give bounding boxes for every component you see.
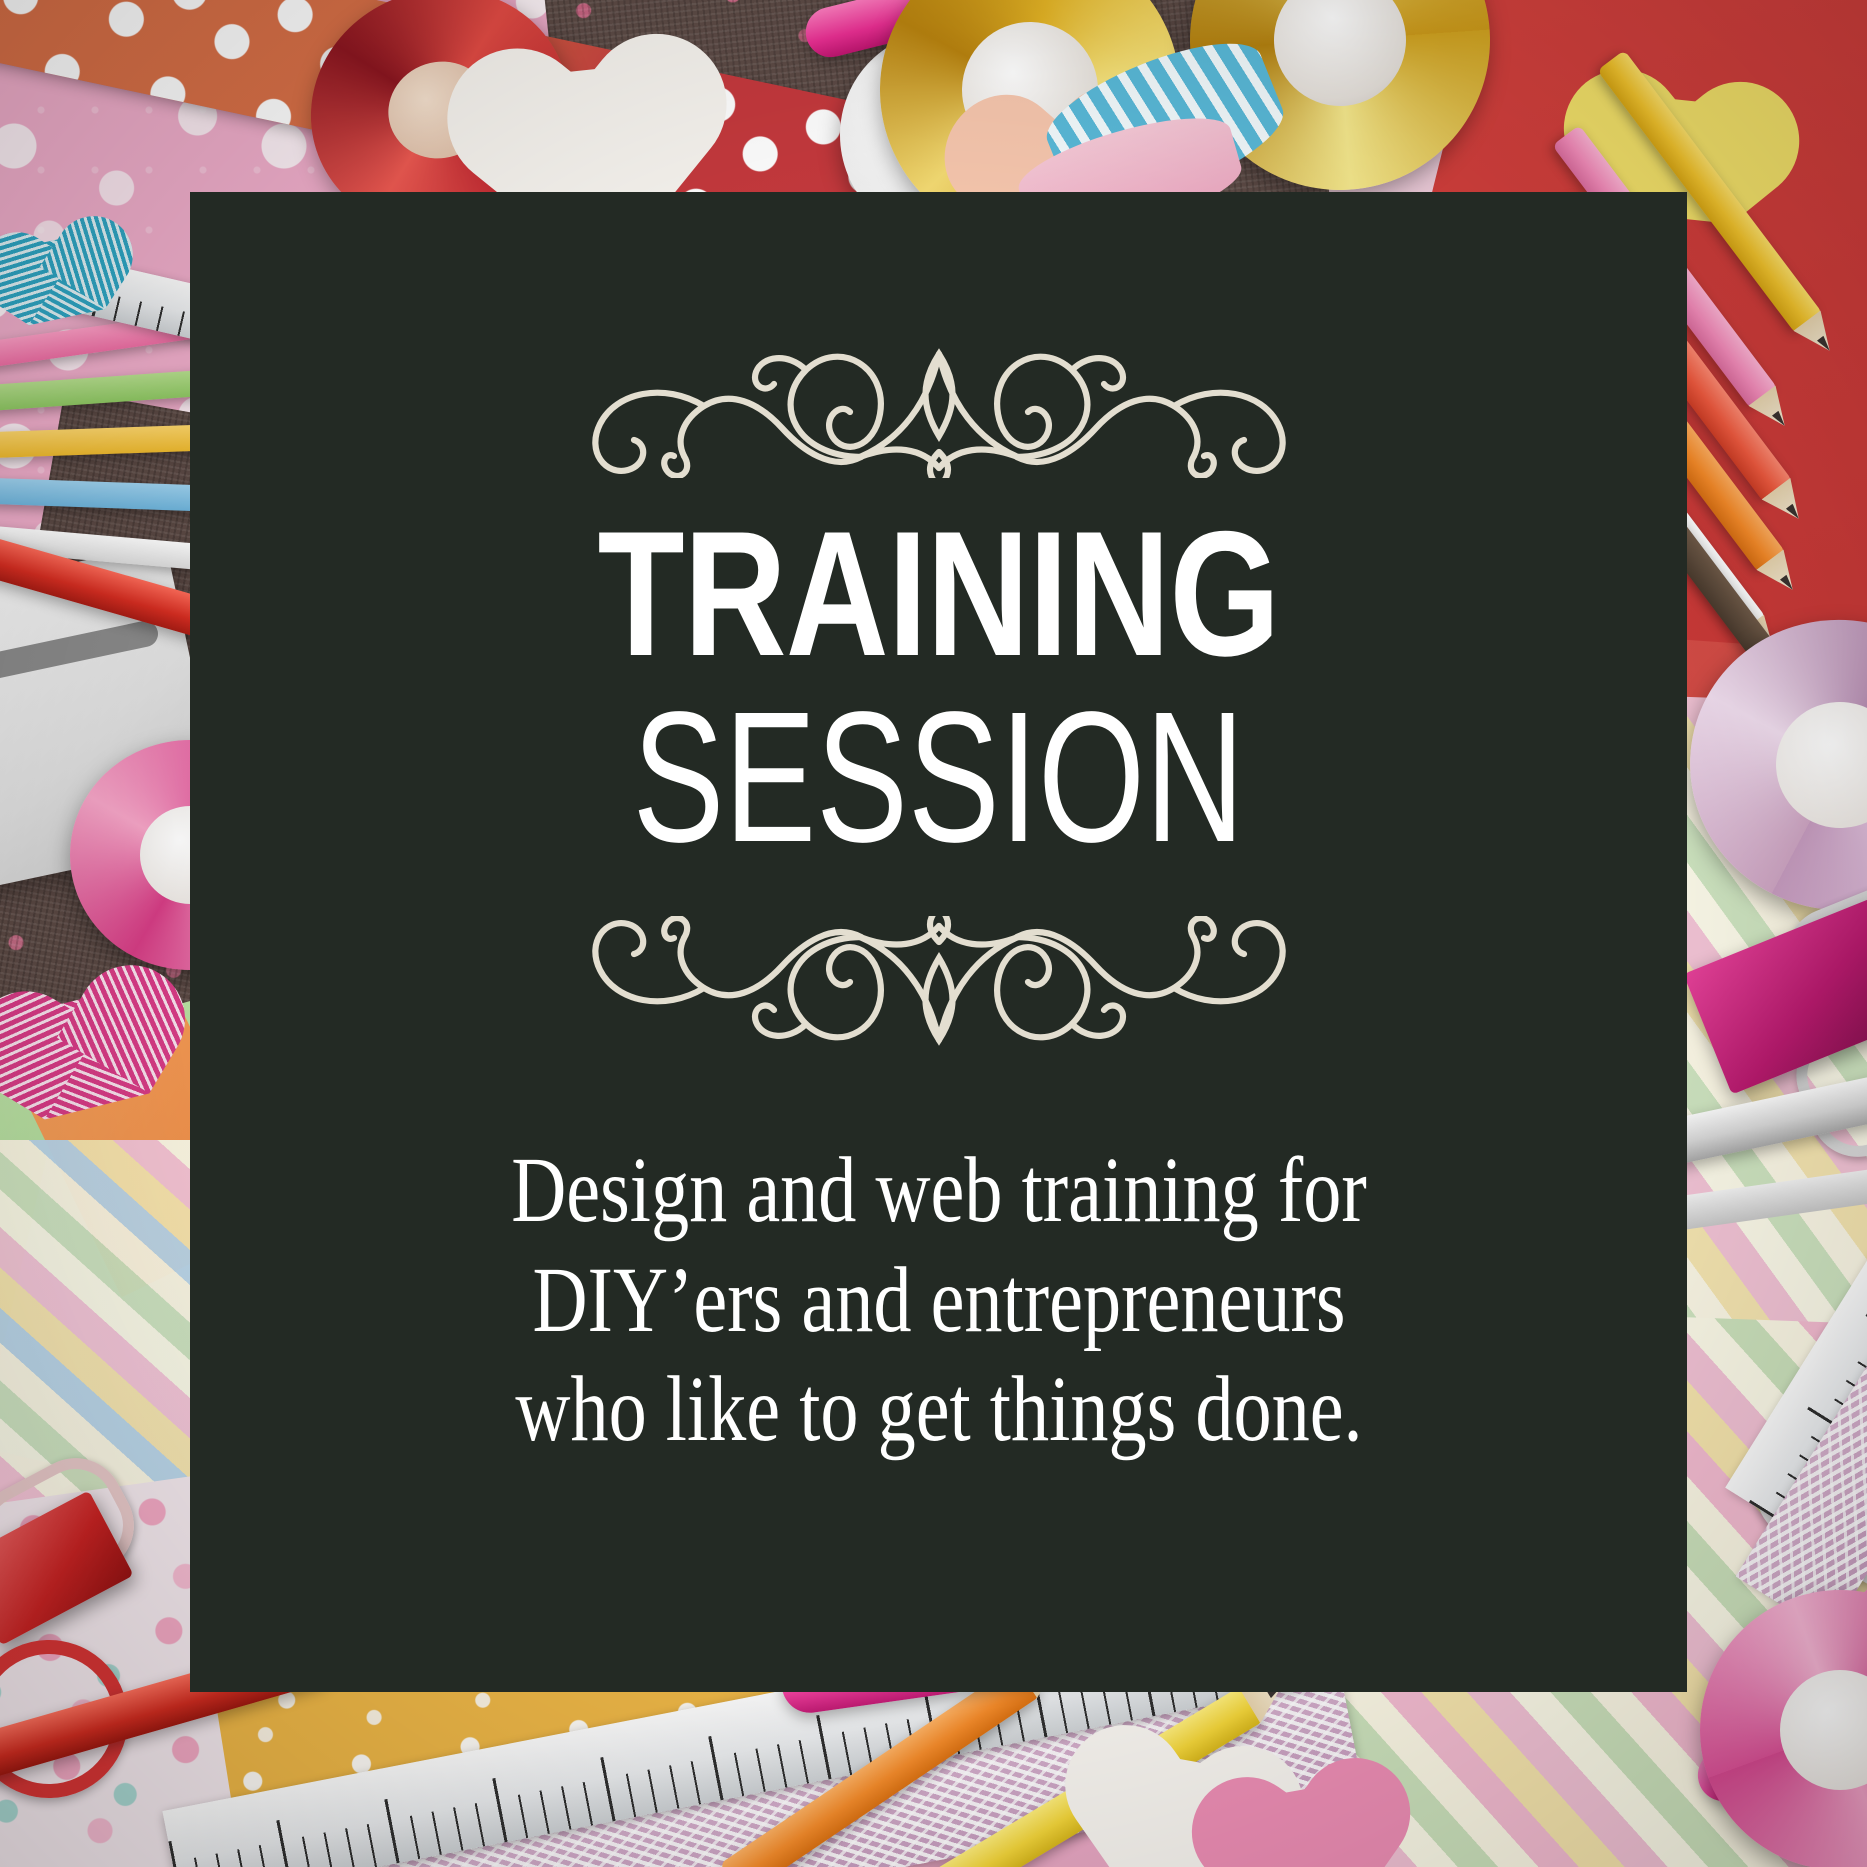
poster-canvas: TRAINING SESSION xyxy=(0,0,1867,1867)
tagline-line-1: Design and web training for xyxy=(471,1136,1406,1246)
tagline-line-2: DIY’ers and entrepreneurs xyxy=(471,1246,1406,1356)
title-line-training: TRAINING xyxy=(340,516,1538,673)
title-line-session: SESSION xyxy=(385,679,1493,876)
flourish-ornament-top xyxy=(544,344,1334,478)
tagline-block: Design and web training for DIY’ers and … xyxy=(369,1136,1509,1465)
flourish-ornament-bottom xyxy=(544,916,1334,1050)
pink-foam-heart-bottom xyxy=(1241,1781,1368,1867)
tagline-line-3: who like to get things done. xyxy=(471,1355,1406,1465)
title-block: TRAINING SESSION xyxy=(190,516,1687,876)
teal-glitter-heart xyxy=(13,233,106,326)
dark-content-card: TRAINING SESSION xyxy=(190,192,1687,1692)
